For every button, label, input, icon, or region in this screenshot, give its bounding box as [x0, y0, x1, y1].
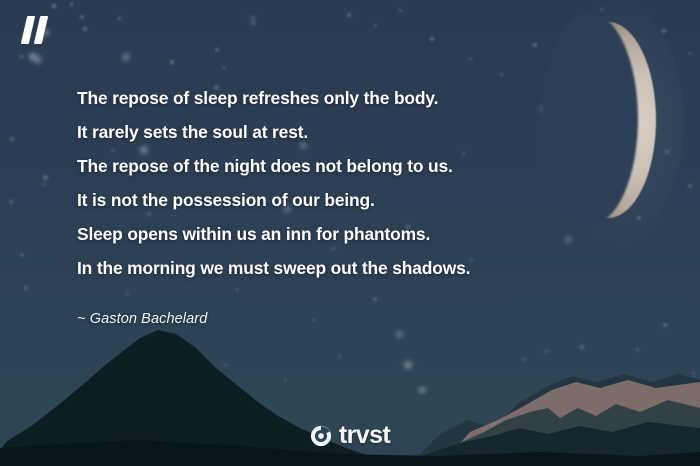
brand-logo[interactable]: trvst	[0, 423, 700, 448]
quote-line-2: It rarely sets the soul at rest.	[77, 115, 657, 149]
brand-logo-text: trvst	[339, 423, 390, 448]
quote-text-block: The repose of sleep refreshes only the b…	[77, 81, 657, 285]
quote-attribution: ~ Gaston Bachelard	[77, 311, 207, 327]
quote-line-3: The repose of the night does not belong …	[77, 149, 657, 183]
quote-line-1: The repose of sleep refreshes only the b…	[77, 81, 657, 115]
quote-line-4: It is not the possession of our being.	[77, 183, 657, 217]
quote-mark-bar-left	[21, 16, 35, 44]
quote-poster: The repose of sleep refreshes only the b…	[0, 0, 700, 466]
quote-line-5: Sleep opens within us an inn for phantom…	[77, 217, 657, 251]
trvst-circle-icon	[310, 425, 332, 447]
quote-mark-bar-right	[34, 16, 48, 44]
quote-line-6: In the morning we must sweep out the sha…	[77, 251, 657, 285]
quote-mark-icon	[20, 16, 60, 52]
